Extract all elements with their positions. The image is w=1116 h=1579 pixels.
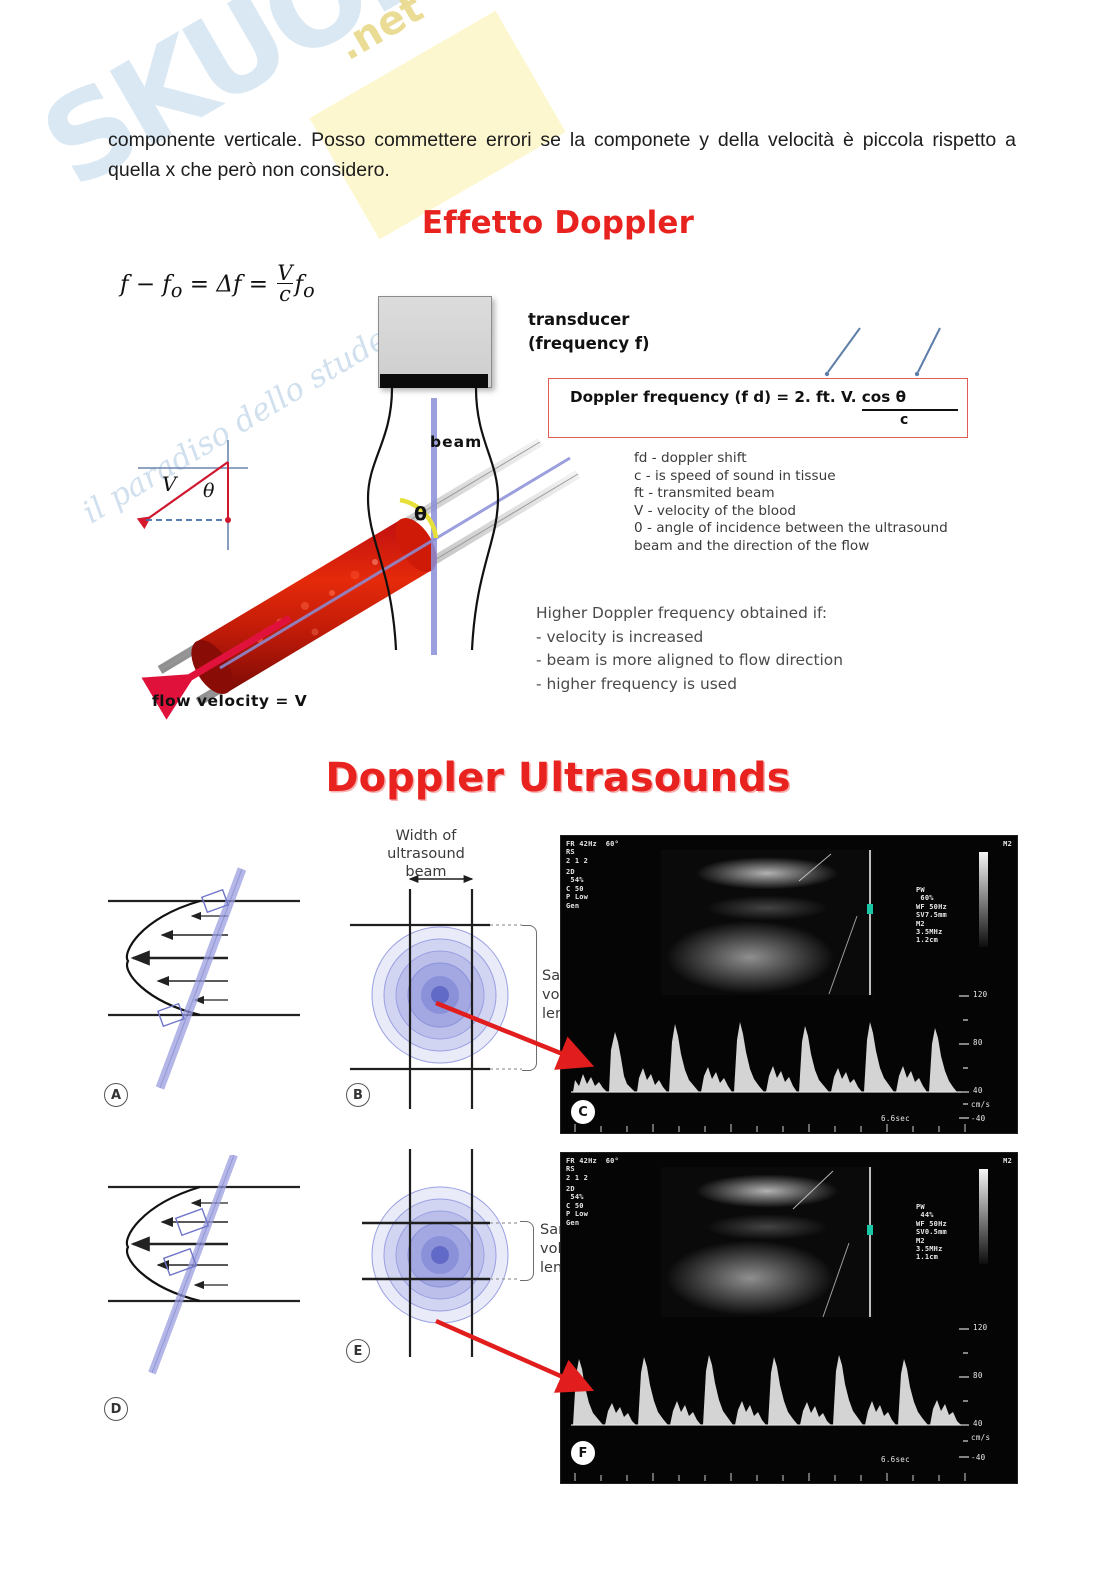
panel-label-e: E: [346, 1339, 370, 1363]
higher-doppler-item: - higher frequency is used: [536, 673, 936, 697]
beam-angle-theta-label: θ: [414, 503, 427, 525]
flow-velocity-label: flow velocity = V: [152, 692, 307, 710]
doppler-frequency-formula-text: Doppler frequency (f d) = 2. ft. V. cos …: [570, 388, 970, 406]
pointer-arrow-c: [430, 997, 610, 1077]
monitor-f-tick-120: 120: [973, 1323, 987, 1332]
body-paragraph: componente verticale. Posso commettere e…: [108, 125, 1016, 185]
monitor-c-time-label: 6.6sec: [881, 1114, 910, 1123]
higher-doppler-heading: Higher Doppler frequency obtained if:: [536, 602, 936, 626]
doppler-effect-figure: f − fo = Δf = Vcfo: [100, 250, 1020, 740]
panel-label-c: C: [571, 1100, 595, 1124]
monitor-c-tick-neg40: -40: [971, 1114, 985, 1123]
monitor-c-spectral-waveform: [573, 1022, 957, 1092]
doppler-frequency-formula-box: [548, 378, 968, 438]
velocity-vector-label: V: [162, 472, 176, 496]
formula-denominator-c: c: [900, 412, 908, 428]
monitor-f-tick-neg40: -40: [971, 1453, 985, 1462]
doppler-legend-list: fd - doppler shift c - is speed of sound…: [634, 450, 1014, 556]
pointer-arrow-f: [430, 1315, 610, 1395]
beam-rings-e: [372, 1187, 508, 1323]
panel-label-f: F: [571, 1441, 595, 1465]
monitor-c-tick-40: 40: [973, 1086, 983, 1095]
legend-item: c - is speed of sound in tissue: [634, 468, 1014, 486]
legend-item: V - velocity of the blood: [634, 503, 1014, 521]
blood-vessel-lumen: [183, 511, 445, 701]
higher-doppler-item: - beam is more aligned to flow direction: [536, 649, 936, 673]
velocity-angle-label: θ: [203, 480, 214, 502]
monitor-f-tick-80: 80: [973, 1371, 983, 1380]
monitor-f-spectral-waveform: [573, 1355, 961, 1425]
legend-item: beam and the direction of the flow: [634, 538, 1014, 556]
ultrasound-monitor-panel-f: FR 42Hz 60° RS 2 1 2 2D 54% C 50 P Low G…: [560, 1152, 1018, 1484]
ultrasound-monitor-panel-c: FR 42Hz 60° RS 2 1 2 2D 54% C 50 P Low G…: [560, 835, 1018, 1134]
legend-item: fd - doppler shift: [634, 450, 1014, 468]
monitor-f-overlay: [561, 1153, 1017, 1483]
panel-label-d: D: [104, 1397, 128, 1421]
panel-label-a: A: [104, 1083, 128, 1107]
section-title-effetto-doppler: Effetto Doppler: [0, 205, 1116, 241]
monitor-c-overlay: [561, 836, 1017, 1133]
higher-doppler-frequency-block: Higher Doppler frequency obtained if: - …: [536, 602, 936, 696]
transducer-label-line2: (frequency f): [528, 332, 650, 356]
sample-volume-brace-e: [520, 1221, 534, 1281]
monitor-c-tick-80: 80: [973, 1038, 983, 1047]
panel-label-b: B: [346, 1083, 370, 1107]
legend-item: 0 - angle of incidence between the ultra…: [634, 520, 1014, 538]
transducer-label: transducer (frequency f): [528, 308, 650, 356]
beam-label: beam: [430, 433, 482, 451]
panel-d-diagram: [100, 1155, 330, 1415]
monitor-f-tick-40: 40: [973, 1419, 983, 1428]
watermark-net-text: .net: [330, 0, 431, 70]
transducer-label-line1: transducer: [528, 308, 650, 332]
doppler-ultrasounds-figure: A Width of ultrasound beam: [100, 825, 1020, 1515]
monitor-c-velocity-unit: cm/s: [971, 1100, 990, 1109]
monitor-c-tick-120: 120: [973, 990, 987, 999]
monitor-f-time-label: 6.6sec: [881, 1455, 910, 1464]
beam-edge-left: [368, 388, 396, 650]
formula-fraction-bar: [862, 409, 958, 411]
beam-edge-right: [472, 388, 498, 650]
section-title-doppler-ultrasounds: Doppler Ultrasounds: [0, 755, 1116, 801]
higher-doppler-item: - velocity is increased: [536, 626, 936, 650]
monitor-f-velocity-unit: cm/s: [971, 1433, 990, 1442]
panel-a-diagram: [100, 843, 330, 1118]
velocity-vector-triangle: [138, 440, 248, 550]
legend-item: ft - transmited beam: [634, 485, 1014, 503]
